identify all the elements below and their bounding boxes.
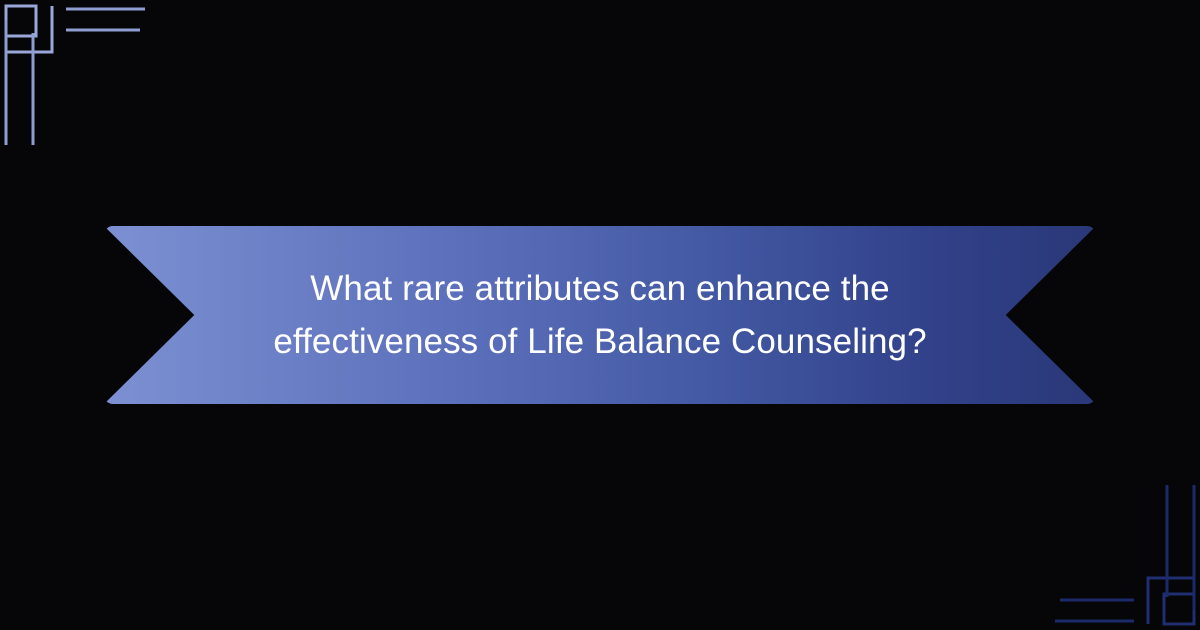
question-text: What rare attributes can enhance the eff… <box>250 262 950 368</box>
question-banner: What rare attributes can enhance the eff… <box>104 226 1096 404</box>
question-card: What rare attributes can enhance the eff… <box>0 0 1200 630</box>
